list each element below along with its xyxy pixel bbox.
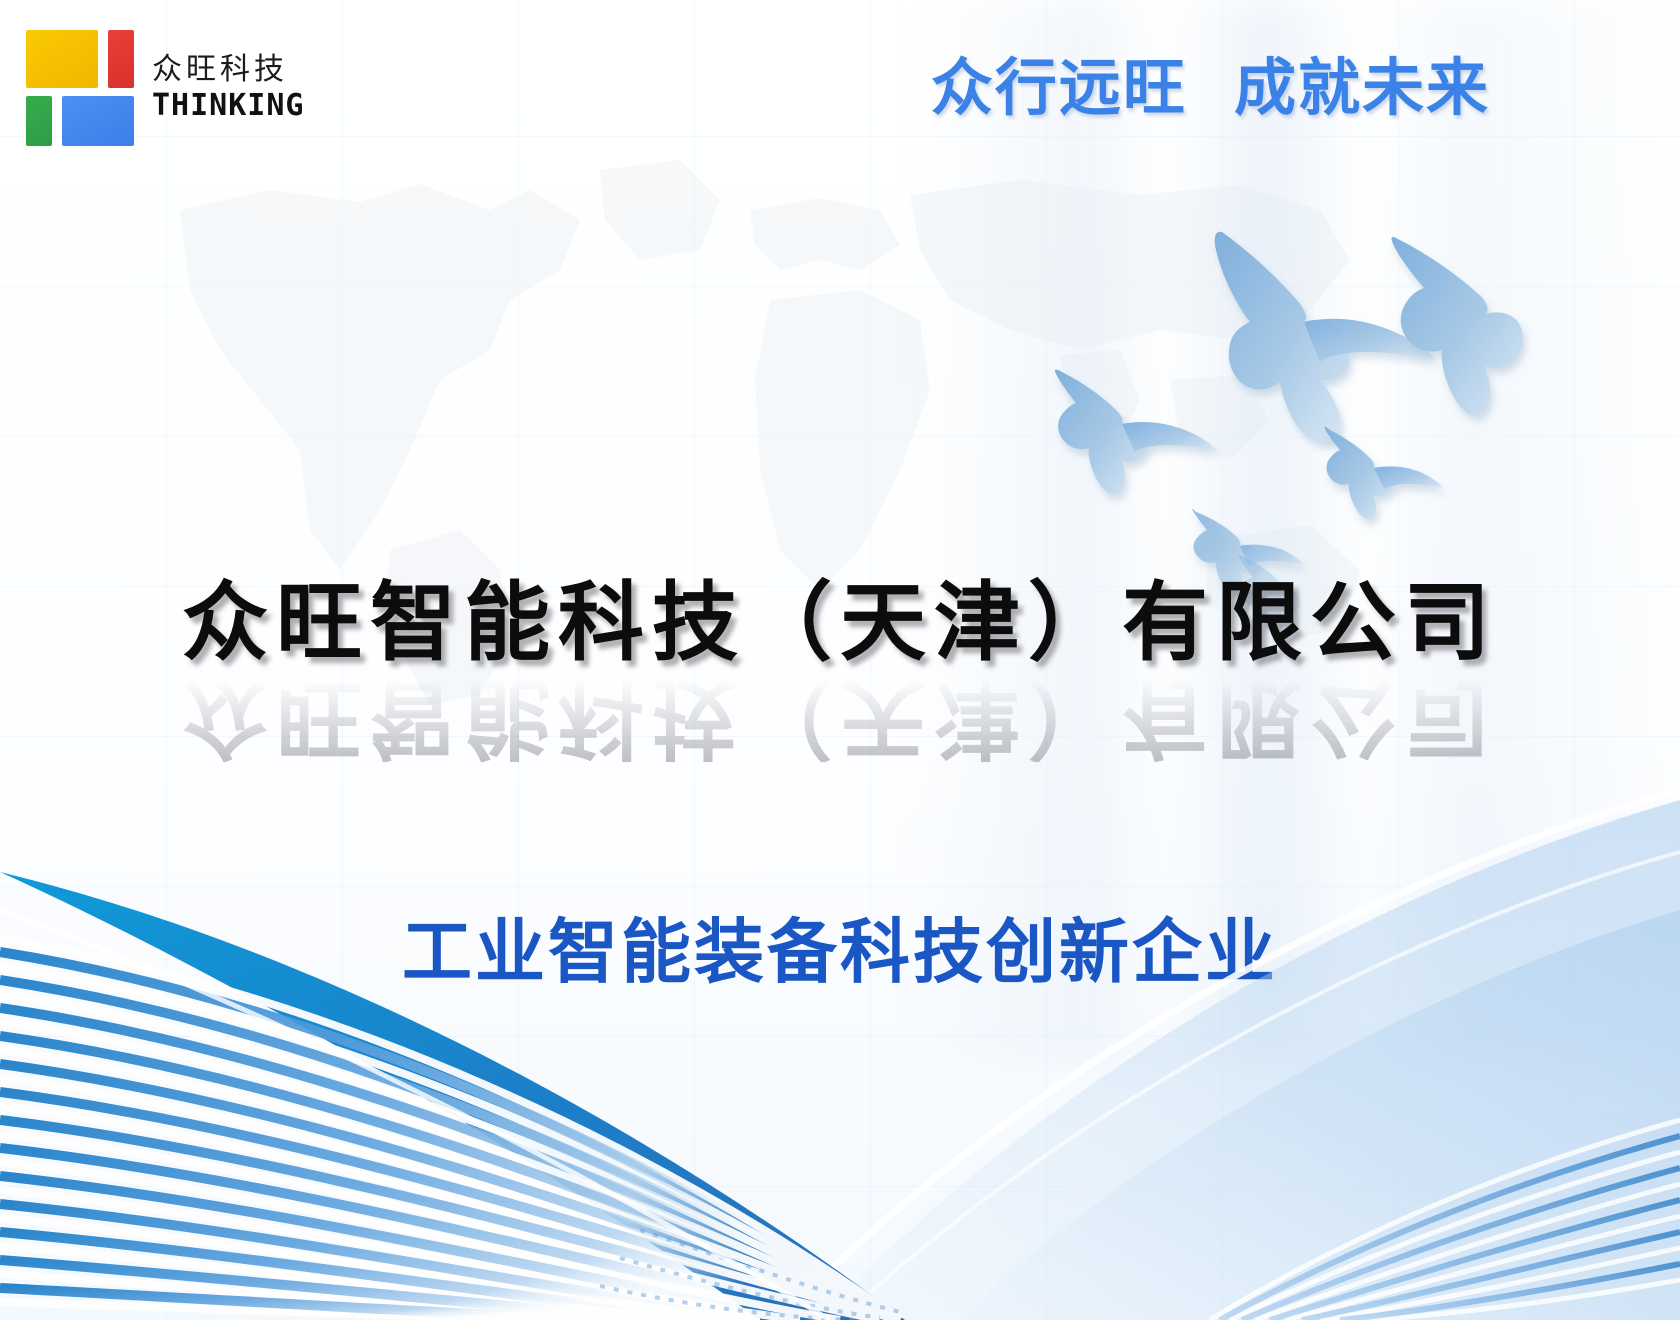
- page-title-reflection: 众旺智能科技（天津）有限公司: [0, 672, 1680, 762]
- logo-mark-blocks: [26, 30, 134, 146]
- logo-blue-block: [62, 96, 134, 146]
- company-logo: 众旺科技 THINKING: [26, 30, 305, 146]
- logo-yellow-block: [26, 30, 98, 88]
- logo-green-block: [26, 96, 52, 146]
- presentation-slide: 众旺科技 THINKING 众行远旺 成就未来: [0, 0, 1680, 1320]
- logo-chinese-name: 众旺科技: [152, 55, 305, 85]
- page-title: 众旺智能科技（天津）有限公司: [0, 578, 1680, 668]
- page-subtitle: 工业智能装备科技创新企业: [0, 896, 1680, 997]
- title-block: 众旺智能科技（天津）有限公司 众旺智能科技（天津）有限公司: [0, 578, 1680, 763]
- logo-wordmark: 众旺科技 THINKING: [152, 55, 305, 121]
- header-tagline: 众行远旺 成就未来: [931, 52, 1490, 123]
- logo-red-block: [108, 30, 134, 88]
- logo-english-name: THINKING: [152, 91, 305, 121]
